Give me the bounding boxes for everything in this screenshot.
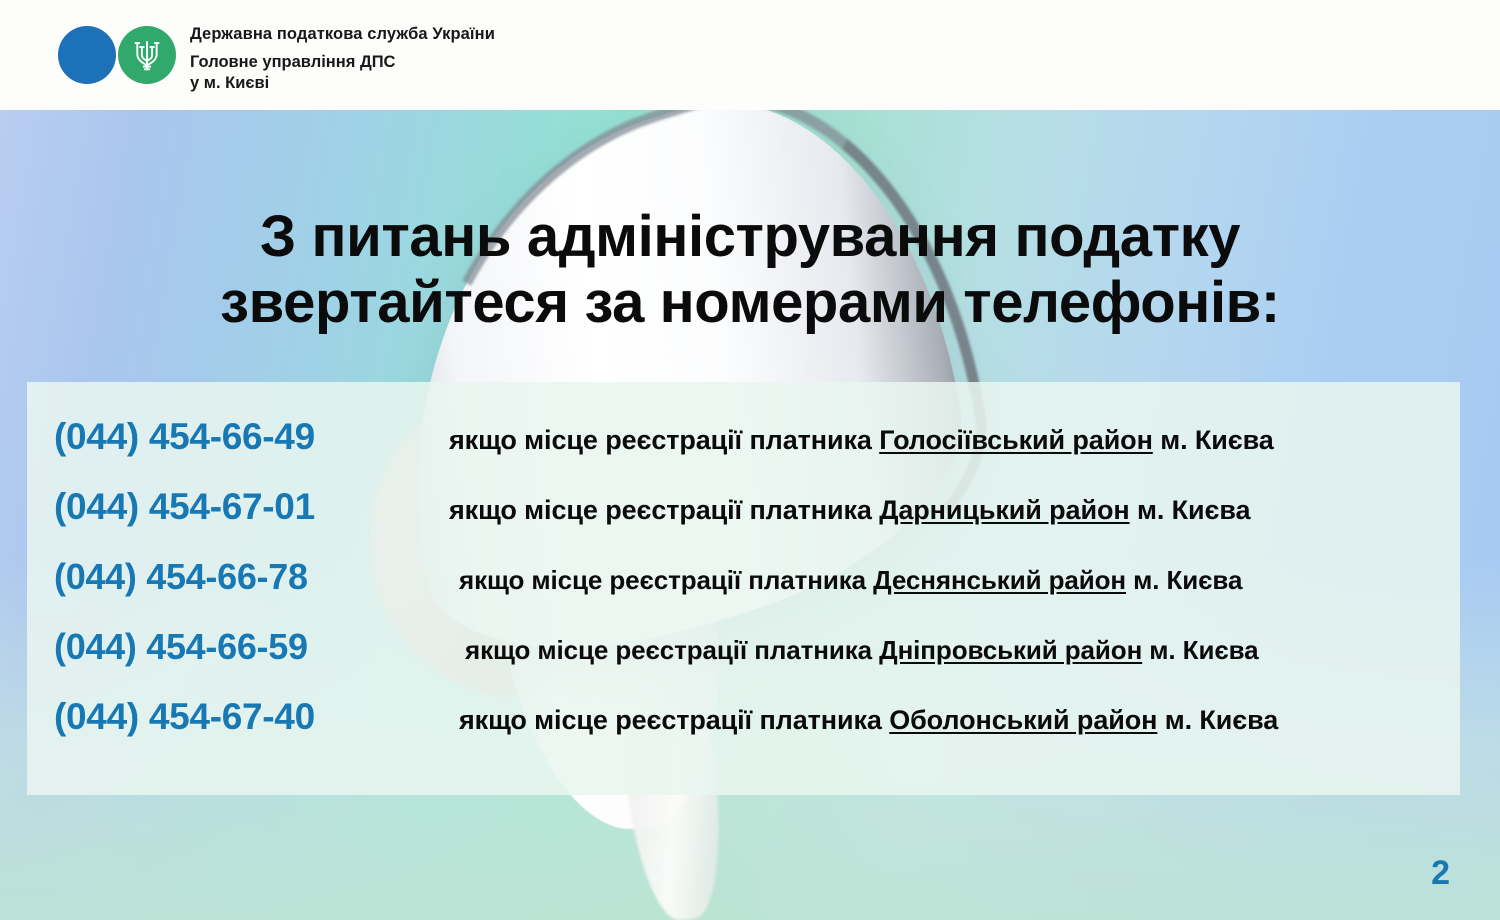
district-name: Дарницький район [879, 495, 1129, 525]
description-suffix: м. Києва [1142, 635, 1258, 665]
org-title-line2b: у м. Києві [190, 73, 495, 94]
district-name: Дніпровський район [879, 635, 1142, 665]
page-title: З питань адміністрування податку звертай… [0, 204, 1500, 336]
phone-number[interactable]: (044) 454-66-78 [27, 556, 387, 598]
phone-description: якщо місце реєстрації платника Голосіївс… [387, 425, 1460, 456]
logo-green-circle-icon [118, 26, 176, 84]
district-name: Голосіївський район [879, 425, 1153, 455]
list-item[interactable]: (044) 454-66-78 якщо місце реєстрації пл… [27, 556, 1460, 626]
phone-number[interactable]: (044) 454-67-40 [27, 696, 387, 738]
list-item[interactable]: (044) 454-66-49 якщо місце реєстрації пл… [27, 416, 1460, 486]
phone-description: якщо місце реєстрації платника Деснянськ… [387, 565, 1460, 596]
phone-number[interactable]: (044) 454-67-01 [27, 486, 387, 528]
list-item[interactable]: (044) 454-67-01 якщо місце реєстрації пл… [27, 486, 1460, 556]
header-organization-text: Державна податкова служба України Головн… [190, 24, 495, 94]
page-title-line2: звертайтеся за номерами телефонів: [0, 270, 1500, 336]
description-suffix: м. Києва [1157, 705, 1278, 735]
description-suffix: м. Києва [1153, 425, 1274, 455]
page-title-line1: З питань адміністрування податку [0, 204, 1500, 270]
description-prefix: якщо місце реєстрації платника [459, 565, 873, 595]
organization-logo [58, 26, 178, 84]
slide-header: Державна податкова служба України Головн… [0, 0, 1500, 110]
list-item[interactable]: (044) 454-67-40 якщо місце реєстрації пл… [27, 696, 1460, 766]
trident-icon [132, 38, 162, 72]
phone-description: якщо місце реєстрації платника Дарницьки… [387, 495, 1460, 526]
district-name: Деснянський район [873, 565, 1126, 595]
page-number: 2 [1431, 856, 1450, 890]
description-prefix: якщо місце реєстрації платника [459, 705, 889, 735]
description-prefix: якщо місце реєстрації платника [449, 425, 879, 455]
list-item[interactable]: (044) 454-66-59 якщо місце реєстрації пл… [27, 626, 1460, 696]
description-prefix: якщо місце реєстрації платника [449, 495, 879, 525]
slide-root: Державна податкова служба України Головн… [0, 0, 1500, 920]
district-name: Оболонський район [889, 705, 1157, 735]
phone-list-panel: (044) 454-66-49 якщо місце реєстрації пл… [27, 382, 1460, 795]
description-prefix: якщо місце реєстрації платника [465, 635, 879, 665]
phone-number[interactable]: (044) 454-66-59 [27, 626, 387, 668]
description-suffix: м. Києва [1130, 495, 1251, 525]
phone-description: якщо місце реєстрації платника Оболонськ… [387, 705, 1460, 736]
description-suffix: м. Києва [1126, 565, 1242, 595]
logo-blue-circle-icon [58, 26, 116, 84]
phone-description: якщо місце реєстрації платника Дніпровсь… [387, 635, 1460, 666]
phone-list: (044) 454-66-49 якщо місце реєстрації пл… [27, 382, 1460, 795]
org-title-line2a: Головне управління ДПС [190, 52, 495, 73]
org-title-line2: Головне управління ДПС у м. Києві [190, 52, 495, 94]
org-title-line1: Державна податкова служба України [190, 24, 495, 45]
phone-number[interactable]: (044) 454-66-49 [27, 416, 387, 458]
